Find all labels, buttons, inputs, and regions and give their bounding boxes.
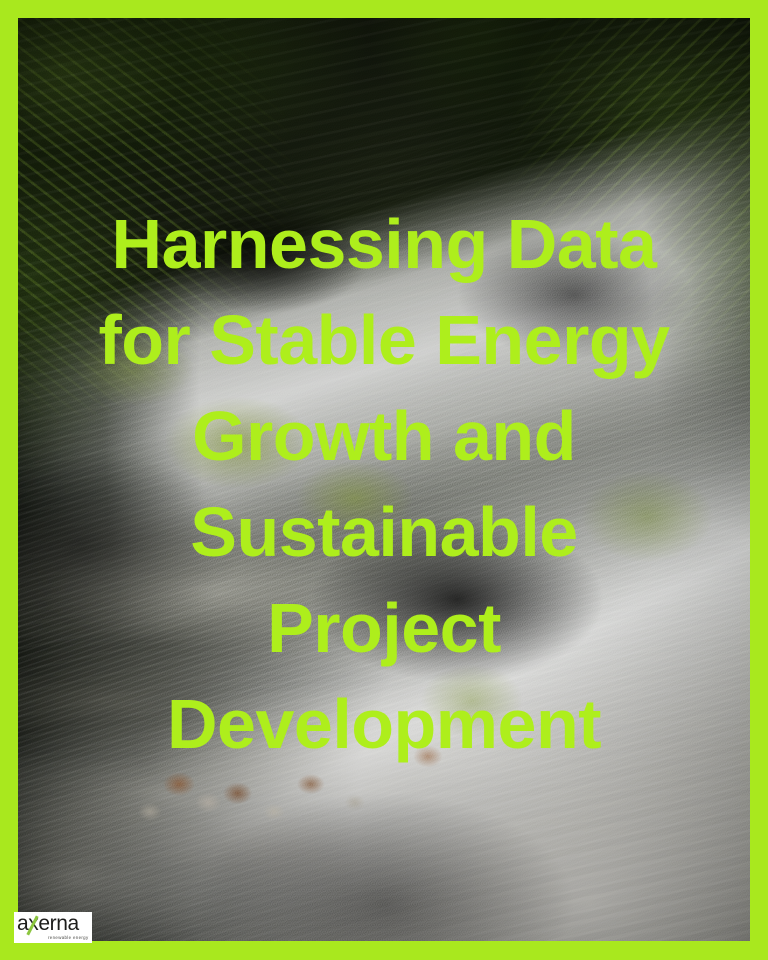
page-title: Harnessing Data for Stable Energy Growth… xyxy=(0,196,768,772)
title-line-2: for Stable Energy xyxy=(0,292,768,388)
title-line-4: Sustainable xyxy=(0,484,768,580)
logo-wordmark: axerna xyxy=(17,913,79,934)
title-line-6: Development xyxy=(0,676,768,772)
logo-tagline: renewable energy xyxy=(48,935,89,940)
axerna-logo: axerna renewable energy xyxy=(14,912,92,943)
title-line-1: Harnessing Data xyxy=(0,196,768,292)
title-line-5: Project xyxy=(0,580,768,676)
title-line-3: Growth and xyxy=(0,388,768,484)
poster-canvas: Harnessing Data for Stable Energy Growth… xyxy=(0,0,768,960)
